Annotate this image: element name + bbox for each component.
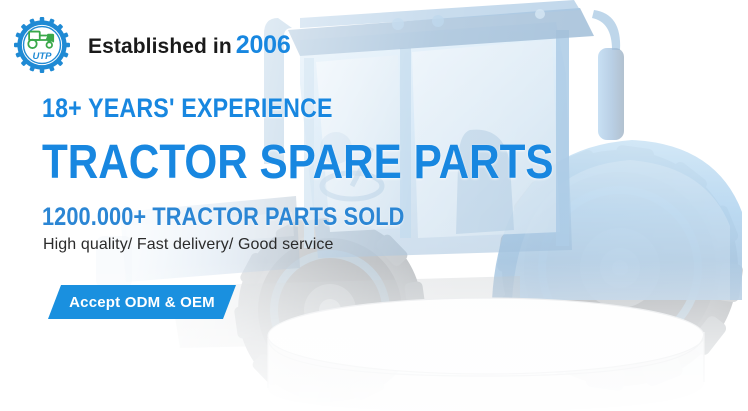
- gear-tractor-logo-icon: UTP: [14, 17, 70, 73]
- logo-wordmark: UTP: [32, 51, 52, 62]
- main-title: TRACTOR SPARE PARTS: [42, 138, 554, 188]
- experience-headline: 18+ YEARS' EXPERIENCE: [42, 93, 333, 124]
- established-label: Established in: [88, 35, 232, 58]
- banner-content: UTP Established in2006 18+ YEARS' EXPERI…: [0, 0, 748, 411]
- parts-sold-headline: 1200.000+ TRACTOR PARTS SOLD: [42, 203, 404, 232]
- established-row: UTP Established in2006: [14, 17, 291, 73]
- promo-banner: UTP Established in2006 18+ YEARS' EXPERI…: [0, 0, 748, 411]
- established-text: Established in2006: [88, 31, 291, 60]
- established-year: 2006: [236, 31, 291, 59]
- accept-odm-oem-button[interactable]: Accept ODM & OEM: [48, 285, 236, 319]
- tagline: High quality/ Fast delivery/ Good servic…: [43, 236, 333, 254]
